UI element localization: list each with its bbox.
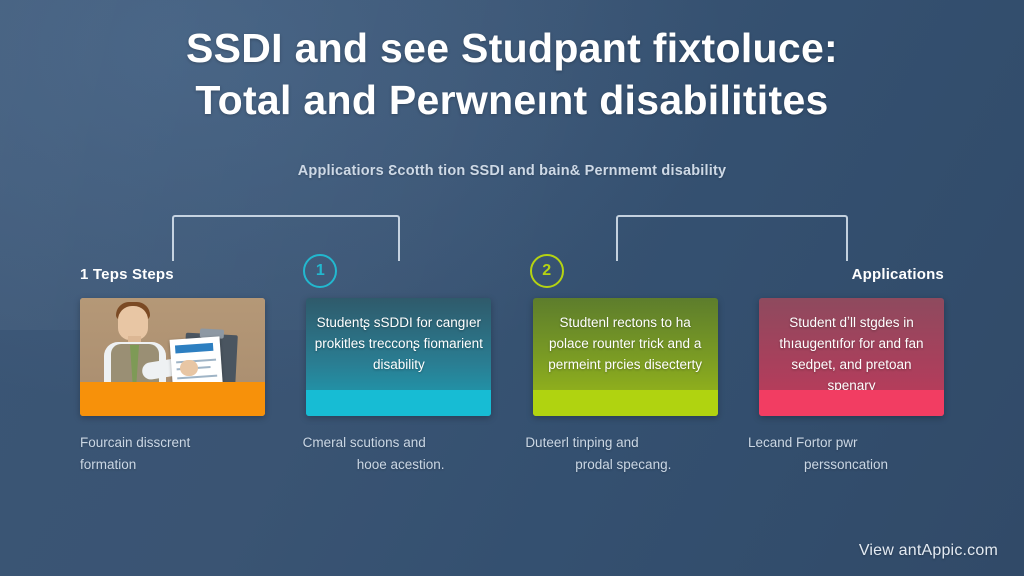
step-badge-2: 2 [530,254,564,288]
column-2-card: Studentʂ sSDDI for cangıer prokitles tre… [306,298,491,416]
column-4-heading: Applications [852,266,944,283]
column-3-heading-row: 2 [533,255,718,293]
column-4-card-text: Student dʼll stgdes in thıaugentıfor for… [767,312,936,396]
column-1-illustration-card [80,298,265,416]
column-3-card: Studtenl rectons to ha polace rounter tr… [533,298,718,416]
column-1-accent-band [80,382,265,416]
column-4-card: Student dʼll stgdes in thıaugentıfor for… [759,298,944,416]
column-2-accent-band [306,390,491,416]
caption-1-line-1: Fourcain disscrent [80,432,276,454]
caption-4-line-2: perssoncation [748,454,944,476]
captions-row: Fourcain disscrent formation Cmeral scut… [80,432,944,476]
caption-2-line-2: hooe acestion. [303,454,499,476]
caption-4: Lecand Fortor pwr perssoncation [748,432,944,476]
step-badge-1: 1 [303,254,337,288]
form-line [177,375,217,380]
header-block: SSDI and see Studpant fixtoluce: Total a… [0,22,1024,126]
column-4-heading-row: Applications [759,255,944,293]
caption-3-line-2: prodal specang. [525,454,721,476]
form-header-bar [175,343,213,354]
column-3-card-text: Studtenl rectons to ha polace rounter tr… [541,312,710,375]
column-1-heading: 1 Teps Steps [80,266,174,283]
page-title-line-1: SSDI and see Studpant fixtoluce: [0,22,1024,74]
caption-2: Cmeral scutions and hooe acestion. [303,432,499,476]
column-3-accent-band [533,390,718,416]
footer-site-label[interactable]: View antAppic.com [859,542,998,560]
caption-1-line-2: formation [80,454,276,476]
infographic-canvas: SSDI and see Studpant fixtoluce: Total a… [0,0,1024,576]
page-subtitle: Applicatiors Ɛcotth tion SSDI and bain& … [0,163,1024,179]
column-2-heading-row: 1 [306,255,491,293]
caption-3-line-1: Duteerl tinping and [525,432,721,454]
caption-3: Duteerl tinping and prodal specang. [525,432,721,476]
caption-4-line-1: Lecand Fortor pwr [748,432,944,454]
column-2-card-text: Studentʂ sSDDI for cangıer prokitles tre… [314,312,483,375]
caption-2-line-1: Cmeral scutions and [303,432,499,454]
column-1-heading-row: 1 Teps Steps [80,255,265,293]
person-head-icon [118,306,148,340]
caption-1: Fourcain disscrent formation [80,432,276,476]
page-title-line-2: Total and Perwneınt disabilitites [0,74,1024,126]
person-hand-icon [180,360,198,376]
column-4-accent-band [759,390,944,416]
